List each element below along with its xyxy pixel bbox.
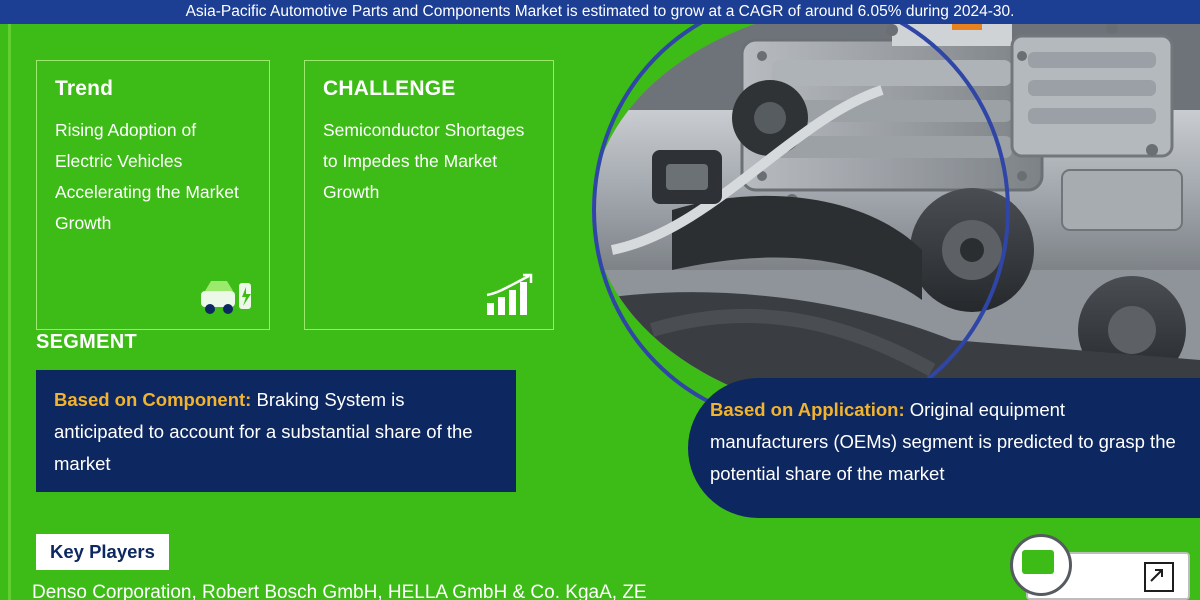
key-players-tab: Key Players — [36, 534, 169, 570]
trend-card: Trend Rising Adoption of Electric Vehicl… — [36, 60, 270, 330]
infographic-body: Trend Rising Adoption of Electric Vehicl… — [0, 24, 1200, 600]
segment-component-strong: Based on Component: — [54, 389, 251, 410]
left-accent-rule — [8, 24, 11, 600]
key-players-text: Denso Corporation, Robert Bosch GmbH, HE… — [32, 579, 732, 600]
engine-image-region — [592, 24, 1200, 420]
challenge-card-body: Semiconductor Shortages to Impedes the M… — [323, 115, 535, 208]
ev-car-charging-icon — [197, 273, 255, 319]
external-link-icon — [1144, 562, 1174, 592]
top-banner: Asia-Pacific Automotive Parts and Compon… — [0, 0, 1200, 24]
challenge-card-title: CHALLENGE — [323, 77, 535, 101]
segment-component-box: Based on Component: Braking System is an… — [36, 370, 516, 492]
segment-application-strong: Based on Application: — [710, 399, 905, 420]
banner-text: Asia-Pacific Automotive Parts and Compon… — [186, 3, 1015, 20]
growth-bar-chart-icon — [481, 273, 539, 319]
logo-circle-icon — [1010, 534, 1072, 596]
trend-card-title: Trend — [55, 77, 251, 101]
segment-application-box: Based on Application: Original equipment… — [688, 378, 1200, 518]
segment-label: SEGMENT — [36, 331, 137, 354]
logo-inner-shape — [1022, 550, 1054, 574]
key-players-label: Key Players — [50, 541, 155, 562]
trend-card-body: Rising Adoption of Electric Vehicles Acc… — [55, 115, 251, 240]
engine-circle-mask — [592, 24, 1200, 420]
challenge-card: CHALLENGE Semiconductor Shortages to Imp… — [304, 60, 554, 330]
car-engine-photo — [592, 24, 1200, 420]
engine-illustration — [592, 24, 1200, 420]
